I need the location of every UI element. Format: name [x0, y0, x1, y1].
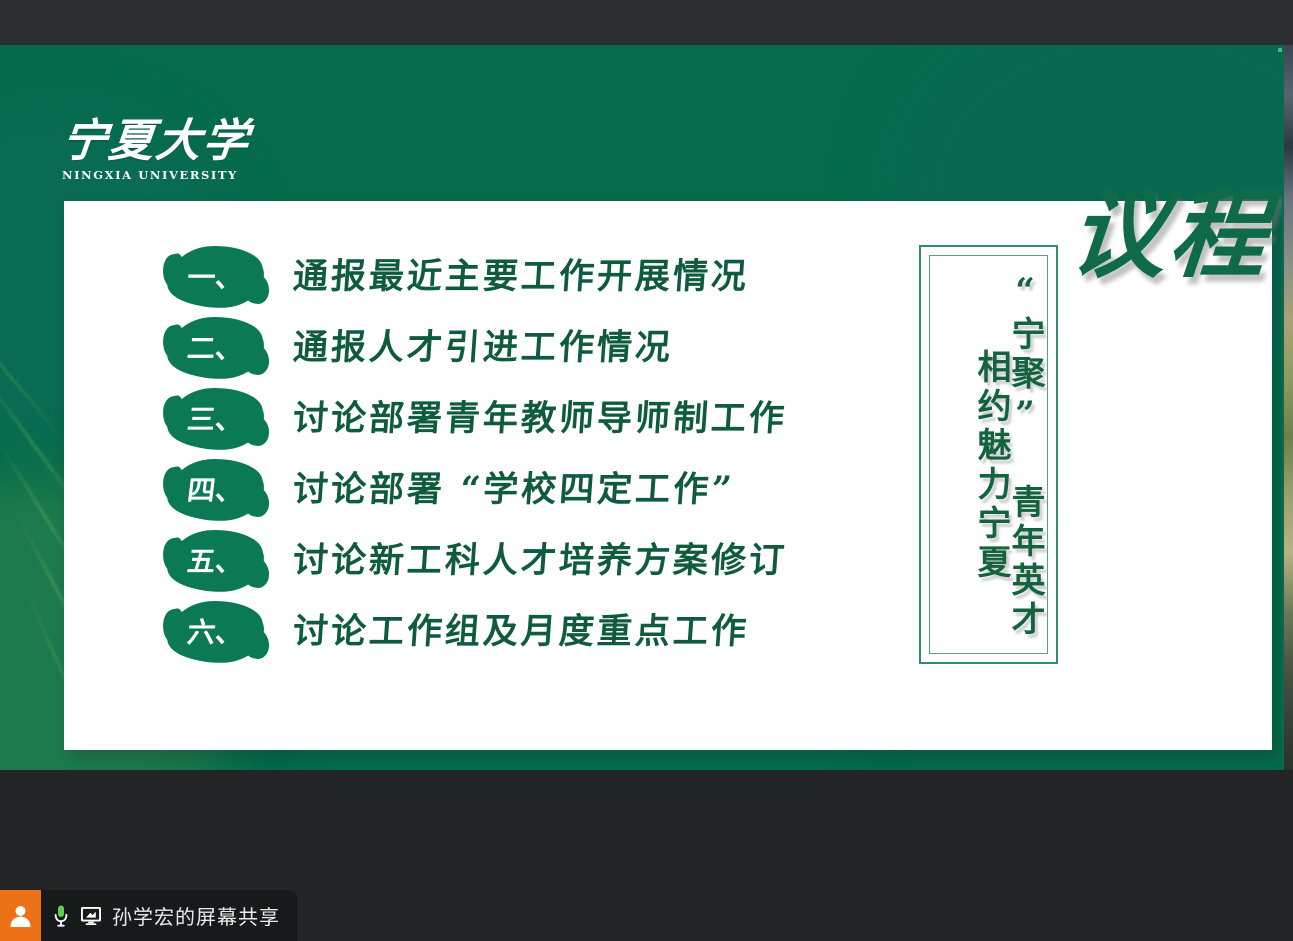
- app-root: 宁夏大学 NINGXIA UNIVERSITY 议程 一、 通报最近主要工作开展…: [0, 0, 1293, 941]
- share-right-border: [1282, 45, 1284, 770]
- agenda-number-badge: 五、: [168, 531, 263, 591]
- top-bar: [0, 0, 1293, 45]
- agenda-number-badge: 四、: [168, 460, 263, 520]
- agenda-number: 五、: [164, 530, 266, 590]
- agenda-item-text: 讨论部署青年教师导师制工作: [292, 401, 788, 436]
- university-logo: 宁夏大学 NINGXIA UNIVERSITY: [62, 117, 272, 182]
- slogan-columns: “宁聚” 青年英才 相约魅力宁夏: [935, 257, 1042, 652]
- presenter-name-text: 孙学宏的屏幕共享: [112, 901, 280, 930]
- agenda-item-text: 讨论部署 “学校四定工作”: [292, 472, 736, 507]
- agenda-item: 五、 讨论新工科人才培养方案修订: [168, 525, 908, 596]
- agenda-item-text: 通报人才引进工作情况: [292, 330, 674, 365]
- agenda-number: 三、: [164, 388, 266, 448]
- presentation-slide: 宁夏大学 NINGXIA UNIVERSITY 议程 一、 通报最近主要工作开展…: [0, 45, 1284, 770]
- agenda-item: 六、 讨论工作组及月度重点工作: [168, 596, 908, 667]
- agenda-number-badge: 二、: [168, 318, 263, 378]
- slogan-column-left: 相约魅力宁夏: [974, 257, 1008, 652]
- agenda-item-text: 讨论新工科人才培养方案修订: [292, 543, 788, 578]
- microphone-icon[interactable]: [53, 903, 71, 929]
- agenda-list: 一、 通报最近主要工作开展情况 二、 通报人才引进工作情况 三、: [168, 241, 908, 667]
- slogan-box: “宁聚” 青年英才 相约魅力宁夏: [919, 245, 1058, 664]
- agenda-number-badge: 六、: [168, 602, 263, 662]
- screen-share-icon: [80, 906, 103, 926]
- agenda-number-badge: 一、: [168, 247, 263, 307]
- agenda-item: 四、 讨论部署 “学校四定工作”: [168, 454, 908, 525]
- agenda-item: 一、 通报最近主要工作开展情况: [168, 241, 908, 312]
- logo-name-cn: 宁夏大学: [60, 117, 275, 164]
- agenda-number-badge: 三、: [168, 389, 263, 449]
- logo-name-en: NINGXIA UNIVERSITY: [62, 168, 272, 182]
- agenda-number: 一、: [164, 246, 266, 306]
- slogan-column-right: “宁聚” 青年英才: [1008, 257, 1042, 652]
- agenda-item-text: 讨论工作组及月度重点工作: [292, 614, 750, 649]
- agenda-number: 四、: [164, 459, 266, 519]
- agenda-number: 二、: [164, 317, 266, 377]
- presenter-name-bar[interactable]: 孙学宏的屏幕共享: [0, 890, 297, 941]
- presenter-name-pill: 孙学宏的屏幕共享: [41, 890, 297, 941]
- slide-title: 议程: [1066, 187, 1274, 283]
- adjacent-video-sliver[interactable]: [1284, 45, 1293, 770]
- agenda-item: 三、 讨论部署青年教师导师制工作: [168, 383, 908, 454]
- screen-share-viewport[interactable]: 宁夏大学 NINGXIA UNIVERSITY 议程 一、 通报最近主要工作开展…: [0, 45, 1284, 770]
- agenda-item: 二、 通报人才引进工作情况: [168, 312, 908, 383]
- agenda-number: 六、: [164, 601, 266, 661]
- agenda-item-text: 通报最近主要工作开展情况: [292, 259, 750, 294]
- avatar: [0, 890, 41, 941]
- sharing-indicator-dot: [1278, 48, 1282, 52]
